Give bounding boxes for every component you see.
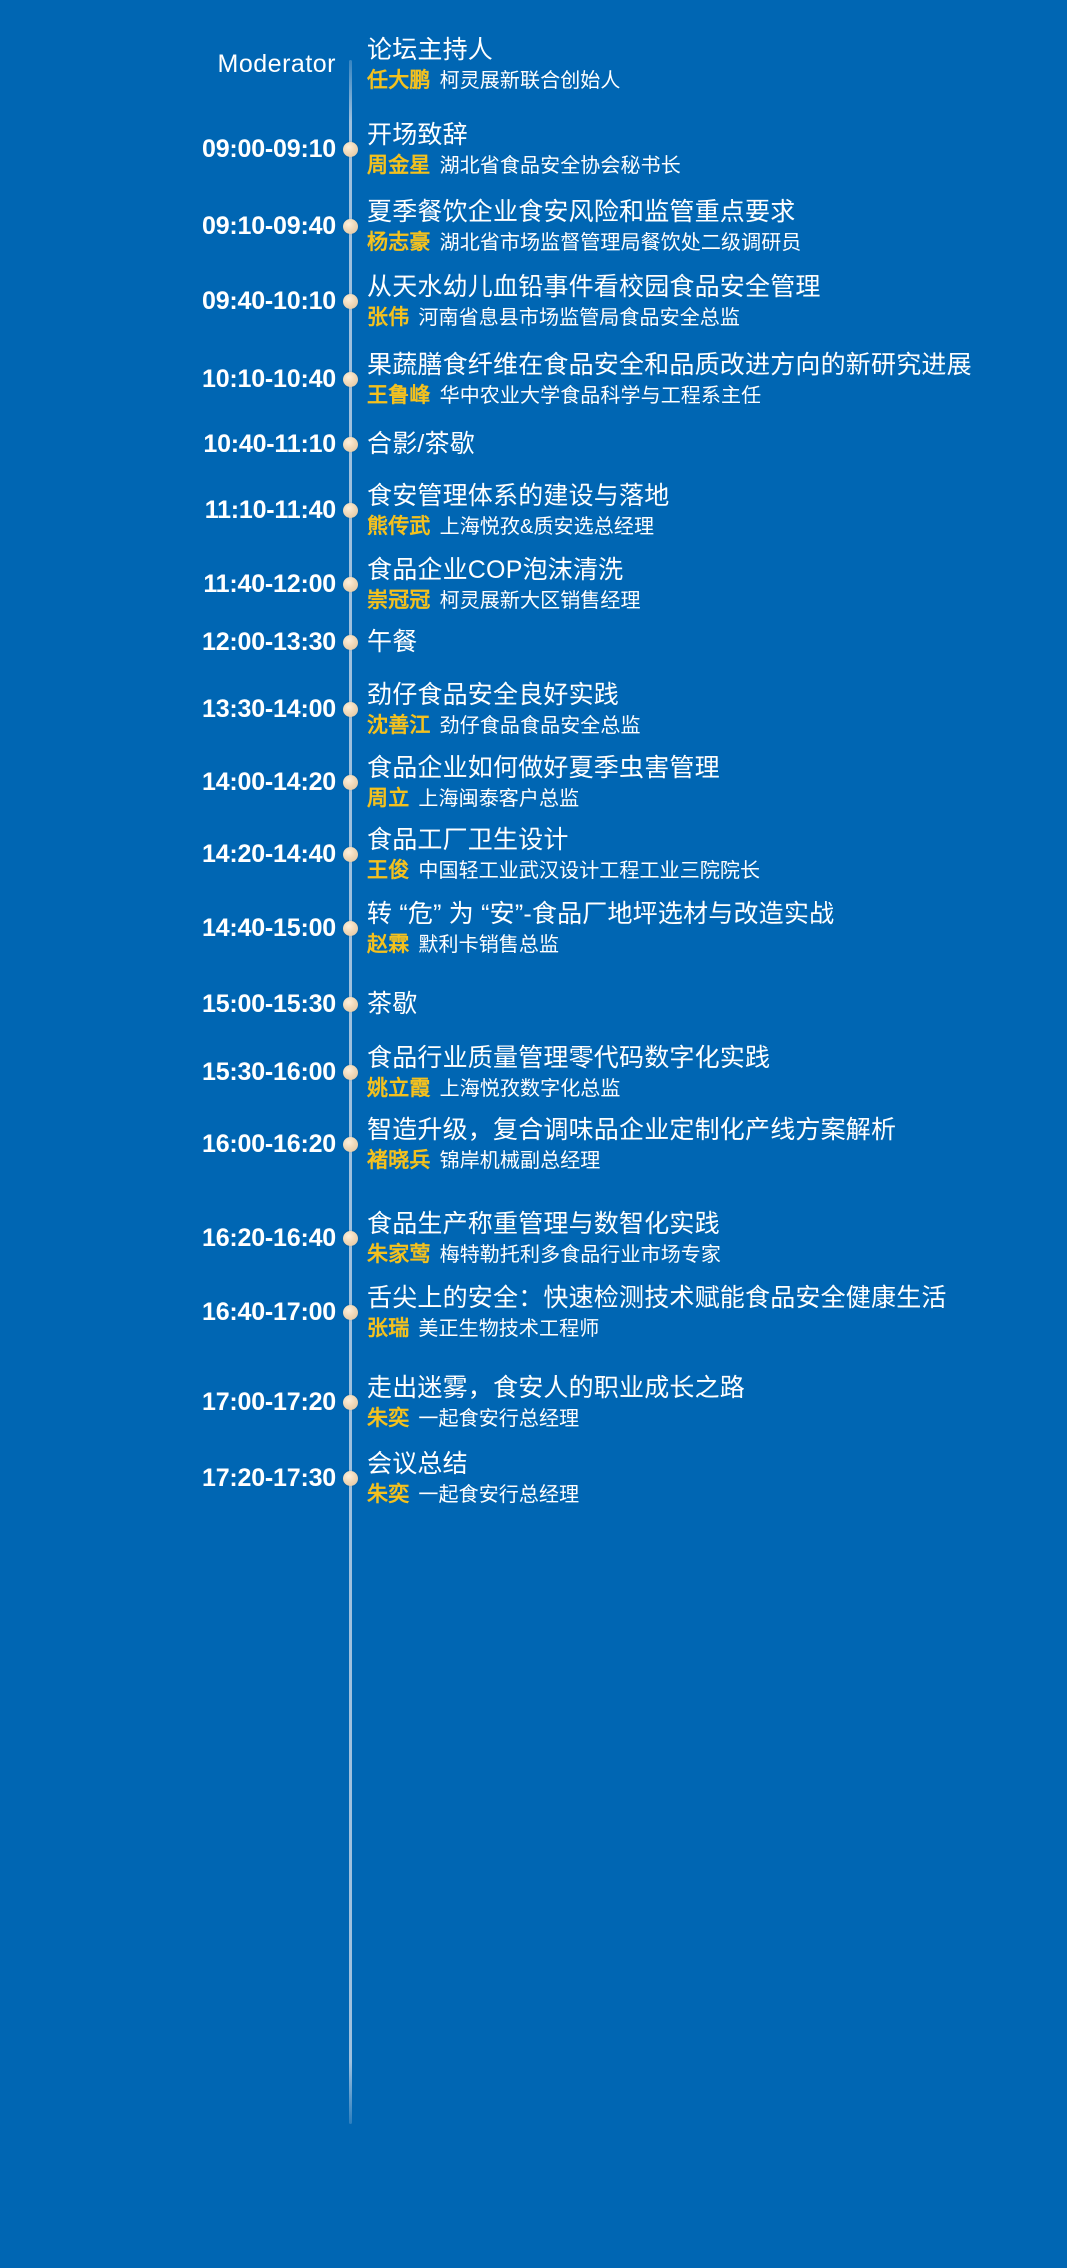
time-column: 09:00-09:10	[0, 121, 336, 162]
speaker-name: 王俊	[367, 859, 409, 882]
timeline-dot-icon	[343, 142, 358, 157]
session-content: 夏季餐饮企业食安风险和监管重点要求杨志豪湖北省市场监督管理局餐饮处二级调研员	[364, 198, 1067, 255]
session-time: 09:10-09:40	[202, 214, 336, 239]
timeline-dot-icon	[343, 372, 358, 387]
session-title: 智造升级，复合调味品企业定制化产线方案解析	[367, 1116, 1049, 1145]
timeline-dot-icon	[343, 1305, 358, 1320]
session-time: 11:40-12:00	[203, 572, 336, 597]
agenda-row: 10:40-11:10合影/茶歇	[0, 430, 1067, 488]
timeline-dot-icon	[343, 1231, 358, 1246]
time-column: 16:40-17:00	[0, 1284, 336, 1325]
session-title: 走出迷雾，食安人的职业成长之路	[367, 1374, 1049, 1403]
timeline-dot-icon	[343, 437, 358, 452]
session-title: 夏季餐饮企业食安风险和监管重点要求	[367, 198, 1049, 227]
speaker-name: 杨志豪	[367, 231, 431, 254]
agenda-row: 09:10-09:40夏季餐饮企业食安风险和监管重点要求杨志豪湖北省市场监督管理…	[0, 198, 1067, 256]
agenda-row: 13:30-14:00劲仔食品安全良好实践沈善江劲仔食品食品安全总监	[0, 681, 1067, 739]
speaker-organization: 华中农业大学食品科学与工程系主任	[440, 385, 762, 407]
session-content: 午餐	[364, 628, 1067, 657]
speaker-name: 任大鹏	[367, 69, 431, 92]
time-column: 14:00-14:20	[0, 754, 336, 795]
speaker-line: 杨志豪湖北省市场监督管理局餐饮处二级调研员	[367, 231, 1049, 255]
speaker-organization: 锦岸机械副总经理	[440, 1150, 601, 1172]
speaker-line: 褚晓兵锦岸机械副总经理	[367, 1149, 1049, 1173]
speaker-name: 姚立霞	[367, 1077, 431, 1100]
speaker-line: 赵霖默利卡销售总监	[367, 933, 1049, 957]
speaker-organization: 梅特勒托利多食品行业市场专家	[440, 1244, 721, 1266]
session-content: 从天水幼儿血铅事件看校园食品安全管理张伟河南省息县市场监管局食品安全总监	[364, 273, 1067, 330]
session-time: 17:20-17:30	[202, 1466, 336, 1491]
session-content: 开场致辞周金星湖北省食品安全协会秘书长	[364, 121, 1067, 178]
speaker-organization: 一起食安行总经理	[418, 1408, 579, 1430]
speaker-name: 周立	[367, 787, 409, 810]
time-column: 17:20-17:30	[0, 1450, 336, 1491]
speaker-organization: 上海悦孜&质安选总经理	[440, 516, 654, 538]
agenda-timeline: Moderator论坛主持人任大鹏柯灵展新联合创始人09:00-09:10开场致…	[0, 0, 1067, 2268]
speaker-organization: 河南省息县市场监管局食品安全总监	[418, 307, 740, 329]
time-column: 17:00-17:20	[0, 1374, 336, 1415]
timeline-dot-icon	[343, 219, 358, 234]
time-column: 11:40-12:00	[0, 556, 336, 597]
speaker-name: 崇冠冠	[367, 589, 431, 612]
speaker-line: 崇冠冠柯灵展新大区销售经理	[367, 589, 1049, 613]
session-title: 论坛主持人	[367, 36, 1049, 65]
moderator-label: Moderator	[218, 52, 336, 77]
session-title: 食品行业质量管理零代码数字化实践	[367, 1044, 1049, 1073]
speaker-line: 姚立霞上海悦孜数字化总监	[367, 1077, 1049, 1101]
timeline-dot-icon	[343, 775, 358, 790]
speaker-name: 赵霖	[367, 933, 409, 956]
time-column: 11:10-11:40	[0, 482, 336, 523]
session-title: 食品企业COP泡沫清洗	[367, 556, 1049, 585]
session-content: 食品生产称重管理与数智化实践朱家莺梅特勒托利多食品行业市场专家	[364, 1210, 1067, 1267]
speaker-organization: 美正生物技术工程师	[418, 1318, 599, 1340]
agenda-row: 16:20-16:40食品生产称重管理与数智化实践朱家莺梅特勒托利多食品行业市场…	[0, 1210, 1067, 1268]
timeline-dot-icon	[343, 921, 358, 936]
session-content: 食品企业COP泡沫清洗崇冠冠柯灵展新大区销售经理	[364, 556, 1067, 613]
speaker-organization: 湖北省食品安全协会秘书长	[440, 155, 681, 177]
time-column: 10:10-10:40	[0, 351, 336, 392]
speaker-line: 朱奕一起食安行总经理	[367, 1483, 1049, 1507]
session-time: 15:00-15:30	[202, 992, 336, 1017]
timeline-dot-icon	[343, 997, 358, 1012]
session-title: 合影/茶歇	[367, 430, 1049, 459]
session-time: 14:40-15:00	[202, 916, 336, 941]
session-time: 09:40-10:10	[202, 289, 336, 314]
time-column: 12:00-13:30	[0, 628, 336, 655]
agenda-row: Moderator论坛主持人任大鹏柯灵展新联合创始人	[0, 36, 1067, 94]
speaker-organization: 柯灵展新联合创始人	[440, 70, 621, 92]
session-content: 食安管理体系的建设与落地熊传武上海悦孜&质安选总经理	[364, 482, 1067, 539]
session-title: 舌尖上的安全：快速检测技术赋能食品安全健康生活	[367, 1284, 1049, 1313]
speaker-name: 王鲁峰	[367, 384, 431, 407]
speaker-line: 张伟河南省息县市场监管局食品安全总监	[367, 306, 1049, 330]
session-time: 16:00-16:20	[202, 1132, 336, 1157]
session-content: 茶歇	[364, 990, 1067, 1019]
speaker-organization: 湖北省市场监督管理局餐饮处二级调研员	[440, 232, 802, 254]
speaker-name: 沈善江	[367, 714, 431, 737]
agenda-row: 11:10-11:40食安管理体系的建设与落地熊传武上海悦孜&质安选总经理	[0, 482, 1067, 540]
timeline-dot-icon	[343, 1471, 358, 1486]
speaker-organization: 上海悦孜数字化总监	[440, 1078, 621, 1100]
agenda-row: 11:40-12:00食品企业COP泡沫清洗崇冠冠柯灵展新大区销售经理	[0, 556, 1067, 614]
session-title: 食品企业如何做好夏季虫害管理	[367, 754, 1049, 783]
speaker-name: 张伟	[367, 306, 409, 329]
session-time: 16:40-17:00	[202, 1300, 336, 1325]
speaker-name: 张瑞	[367, 1317, 409, 1340]
session-time: 10:10-10:40	[202, 367, 336, 392]
session-content: 转 “危” 为 “安”-食品厂地坪选材与改造实战赵霖默利卡销售总监	[364, 900, 1067, 957]
session-title: 果蔬膳食纤维在食品安全和品质改进方向的新研究进展	[367, 351, 1049, 380]
agenda-row: 15:30-16:00食品行业质量管理零代码数字化实践姚立霞上海悦孜数字化总监	[0, 1044, 1067, 1102]
agenda-row: 14:20-14:40食品工厂卫生设计王俊中国轻工业武汉设计工程工业三院院长	[0, 826, 1067, 884]
timeline-dot-icon	[343, 702, 358, 717]
session-time: 14:00-14:20	[202, 770, 336, 795]
time-column: 14:40-15:00	[0, 900, 336, 941]
speaker-line: 王俊中国轻工业武汉设计工程工业三院院长	[367, 859, 1049, 883]
speaker-line: 周立上海闽泰客户总监	[367, 787, 1049, 811]
time-column: 09:10-09:40	[0, 198, 336, 239]
session-time: 14:20-14:40	[202, 842, 336, 867]
speaker-organization: 上海闽泰客户总监	[418, 788, 579, 810]
agenda-row: 10:10-10:40果蔬膳食纤维在食品安全和品质改进方向的新研究进展王鲁峰华中…	[0, 351, 1067, 409]
speaker-line: 熊传武上海悦孜&质安选总经理	[367, 515, 1049, 539]
speaker-organization: 默利卡销售总监	[418, 934, 559, 956]
speaker-name: 朱奕	[367, 1483, 409, 1506]
time-column: 15:30-16:00	[0, 1044, 336, 1085]
timeline-dot-icon	[343, 1395, 358, 1410]
speaker-line: 沈善江劲仔食品食品安全总监	[367, 714, 1049, 738]
session-content: 合影/茶歇	[364, 430, 1067, 459]
agenda-row: 14:00-14:20食品企业如何做好夏季虫害管理周立上海闽泰客户总监	[0, 754, 1067, 812]
session-content: 论坛主持人任大鹏柯灵展新联合创始人	[364, 36, 1067, 93]
session-time: 15:30-16:00	[202, 1060, 336, 1085]
session-time: 10:40-11:10	[203, 432, 336, 457]
timeline-dot-icon	[343, 635, 358, 650]
time-column: 14:20-14:40	[0, 826, 336, 867]
session-title: 茶歇	[367, 990, 1049, 1019]
time-column: 13:30-14:00	[0, 681, 336, 722]
speaker-name: 朱奕	[367, 1407, 409, 1430]
session-content: 智造升级，复合调味品企业定制化产线方案解析褚晓兵锦岸机械副总经理	[364, 1116, 1067, 1173]
agenda-row: 17:00-17:20走出迷雾，食安人的职业成长之路朱奕一起食安行总经理	[0, 1374, 1067, 1432]
session-title: 转 “危” 为 “安”-食品厂地坪选材与改造实战	[367, 900, 1049, 929]
session-content: 果蔬膳食纤维在食品安全和品质改进方向的新研究进展王鲁峰华中农业大学食品科学与工程…	[364, 351, 1067, 408]
session-time: 16:20-16:40	[202, 1226, 336, 1251]
session-title: 会议总结	[367, 1450, 1049, 1479]
session-title: 食品生产称重管理与数智化实践	[367, 1210, 1049, 1239]
speaker-line: 周金星湖北省食品安全协会秘书长	[367, 154, 1049, 178]
session-content: 食品行业质量管理零代码数字化实践姚立霞上海悦孜数字化总监	[364, 1044, 1067, 1101]
time-column: Moderator	[0, 36, 336, 77]
time-column: 16:00-16:20	[0, 1116, 336, 1157]
session-title: 从天水幼儿血铅事件看校园食品安全管理	[367, 273, 1049, 302]
session-title: 食品工厂卫生设计	[367, 826, 1049, 855]
timeline-dot-icon	[343, 847, 358, 862]
speaker-line: 朱奕一起食安行总经理	[367, 1407, 1049, 1431]
agenda-row: 14:40-15:00转 “危” 为 “安”-食品厂地坪选材与改造实战赵霖默利卡…	[0, 900, 1067, 958]
agenda-row: 12:00-13:30午餐	[0, 628, 1067, 686]
agenda-row: 16:40-17:00舌尖上的安全：快速检测技术赋能食品安全健康生活张瑞美正生物…	[0, 1284, 1067, 1342]
time-column: 16:20-16:40	[0, 1210, 336, 1251]
speaker-name: 褚晓兵	[367, 1149, 431, 1172]
agenda-row: 09:00-09:10开场致辞周金星湖北省食品安全协会秘书长	[0, 121, 1067, 179]
time-column: 09:40-10:10	[0, 273, 336, 314]
session-title: 午餐	[367, 628, 1049, 657]
session-content: 会议总结朱奕一起食安行总经理	[364, 1450, 1067, 1507]
timeline-dot-icon	[343, 577, 358, 592]
agenda-row: 16:00-16:20智造升级，复合调味品企业定制化产线方案解析褚晓兵锦岸机械副…	[0, 1116, 1067, 1174]
speaker-organization: 中国轻工业武汉设计工程工业三院院长	[418, 860, 760, 882]
session-content: 食品工厂卫生设计王俊中国轻工业武汉设计工程工业三院院长	[364, 826, 1067, 883]
speaker-name: 朱家莺	[367, 1243, 431, 1266]
timeline-dot-icon	[343, 1137, 358, 1152]
speaker-line: 张瑞美正生物技术工程师	[367, 1317, 1049, 1341]
session-content: 走出迷雾，食安人的职业成长之路朱奕一起食安行总经理	[364, 1374, 1067, 1431]
session-content: 食品企业如何做好夏季虫害管理周立上海闽泰客户总监	[364, 754, 1067, 811]
session-content: 劲仔食品安全良好实践沈善江劲仔食品食品安全总监	[364, 681, 1067, 738]
session-time: 17:00-17:20	[202, 1390, 336, 1415]
time-column: 10:40-11:10	[0, 430, 336, 457]
speaker-organization: 一起食安行总经理	[418, 1484, 579, 1506]
session-title: 劲仔食品安全良好实践	[367, 681, 1049, 710]
agenda-row: 09:40-10:10从天水幼儿血铅事件看校园食品安全管理张伟河南省息县市场监管…	[0, 273, 1067, 331]
speaker-line: 任大鹏柯灵展新联合创始人	[367, 69, 1049, 93]
session-time: 11:10-11:40	[205, 498, 336, 523]
time-column: 15:00-15:30	[0, 990, 336, 1017]
session-time: 13:30-14:00	[202, 697, 336, 722]
session-title: 开场致辞	[367, 121, 1049, 150]
session-time: 12:00-13:30	[202, 630, 336, 655]
speaker-name: 周金星	[367, 154, 431, 177]
timeline-dot-icon	[343, 1065, 358, 1080]
agenda-row: 15:00-15:30茶歇	[0, 990, 1067, 1048]
speaker-name: 熊传武	[367, 515, 431, 538]
session-content: 舌尖上的安全：快速检测技术赋能食品安全健康生活张瑞美正生物技术工程师	[364, 1284, 1067, 1341]
timeline-dot-icon	[343, 294, 358, 309]
speaker-organization: 劲仔食品食品安全总监	[440, 715, 641, 737]
session-time: 09:00-09:10	[202, 137, 336, 162]
timeline-dot-icon	[343, 503, 358, 518]
speaker-organization: 柯灵展新大区销售经理	[440, 590, 641, 612]
speaker-line: 朱家莺梅特勒托利多食品行业市场专家	[367, 1243, 1049, 1267]
session-title: 食安管理体系的建设与落地	[367, 482, 1049, 511]
agenda-row: 17:20-17:30会议总结朱奕一起食安行总经理	[0, 1450, 1067, 1508]
speaker-line: 王鲁峰华中农业大学食品科学与工程系主任	[367, 384, 1049, 408]
